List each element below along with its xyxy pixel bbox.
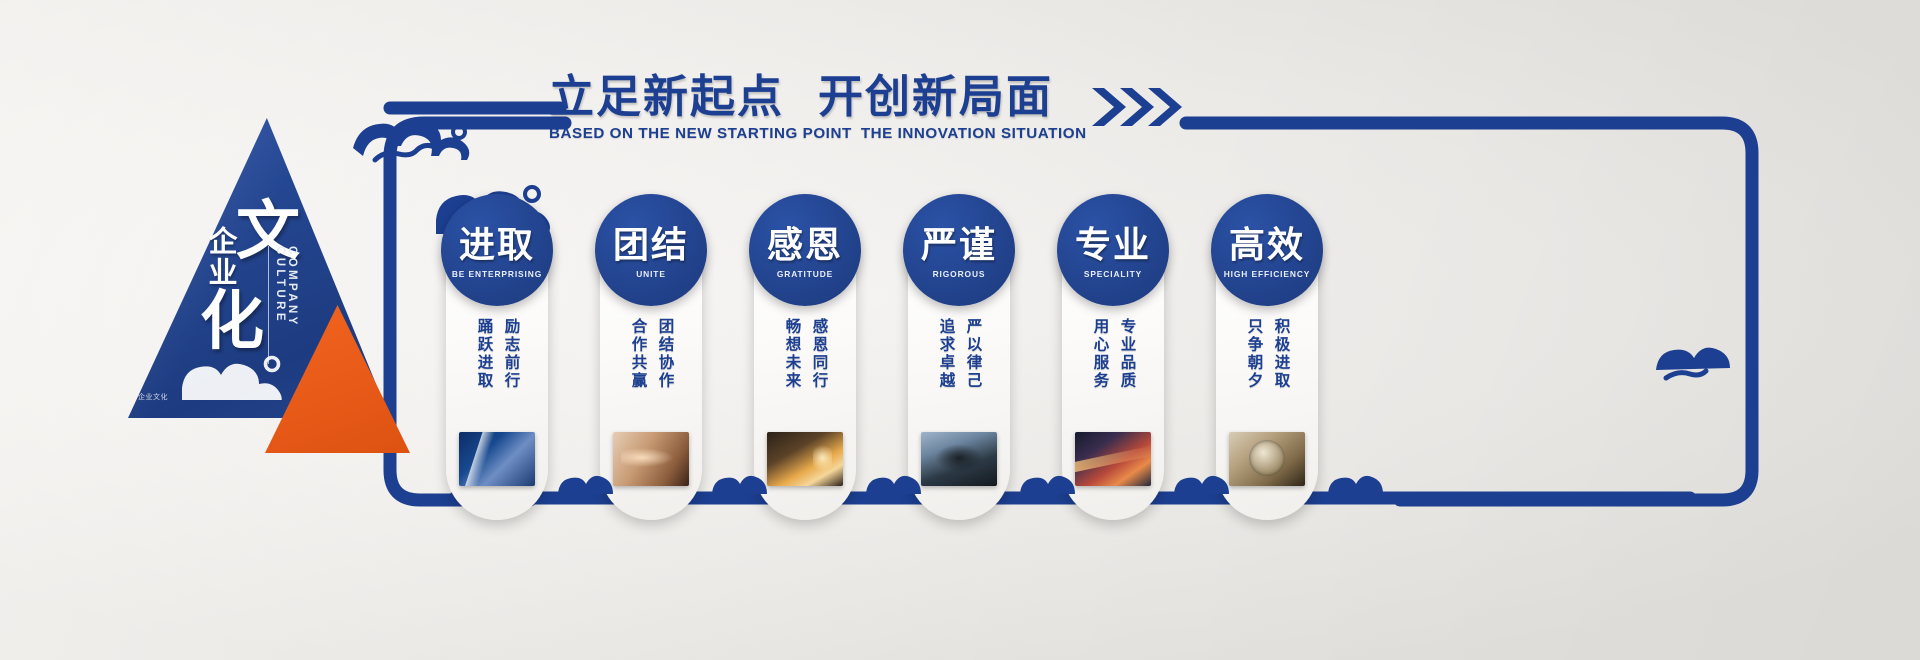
rail-cloud-2 xyxy=(710,462,772,496)
pill-cn-5: 专业 xyxy=(1075,226,1151,264)
rail-cloud-4 xyxy=(1018,462,1080,496)
headline-english: BASED ON THE NEW STARTING POINTTHE INNOV… xyxy=(549,125,1109,142)
pill-circle-2[interactable]: 团结 UNITE xyxy=(595,194,707,306)
pill-slogan-left-1: 踊跃进取 xyxy=(473,318,495,414)
pill-slogan-6: 积极进取 只争朝夕 xyxy=(1216,318,1318,414)
headline-en-part2: THE INNOVATION SITUATION xyxy=(861,125,1087,142)
pill-circle-1[interactable]: 进取 BE ENTERPRISING xyxy=(441,194,553,306)
pill-slogan-left-3: 畅想未来 xyxy=(781,318,803,414)
pill-slogan-right-1: 励志前行 xyxy=(500,318,522,414)
rail-cloud-6 xyxy=(1326,462,1388,496)
pill-cn-4: 严谨 xyxy=(921,226,997,264)
pill-slogan-right-2: 团结协作 xyxy=(654,318,676,414)
pill-slogan-right-6: 积极进取 xyxy=(1270,318,1292,414)
rail-cloud-1 xyxy=(556,462,618,496)
pill-cn-3: 感恩 xyxy=(767,226,843,264)
logo-en-company-culture: COMPANY CULTURE xyxy=(268,246,298,364)
headline-cn-part1: 立足新起点 xyxy=(549,72,784,122)
headline-block: 立足新起点开创新局面 BASED ON THE NEW STARTING POI… xyxy=(549,72,1109,142)
pill-slogan-5: 专业品质 用心服务 xyxy=(1062,318,1164,414)
photo-eagle xyxy=(921,432,997,486)
photo-handshake xyxy=(613,432,689,486)
pill-en-6: HIGH EFFICIENCY xyxy=(1224,269,1311,279)
pill-en-2: UNITE xyxy=(636,269,666,279)
pill-en-4: RIGOROUS xyxy=(933,269,986,279)
chevron-arrows xyxy=(1090,86,1186,128)
logo-cloud-flourish xyxy=(176,348,296,400)
pill-en-5: SPECIALITY xyxy=(1084,269,1142,279)
photo-runner-track xyxy=(1075,432,1151,486)
pill-slogan-3: 感恩同行 畅想未来 xyxy=(754,318,856,414)
pill-slogan-left-6: 只争朝夕 xyxy=(1243,318,1265,414)
pill-slogan-2: 团结协作 合作共赢 xyxy=(600,318,702,414)
photo-pocket-watch xyxy=(1229,432,1305,486)
rail-cloud-5 xyxy=(1172,462,1234,496)
pill-slogan-left-5: 用心服务 xyxy=(1089,318,1111,414)
cloud-motif-right xyxy=(1652,330,1744,382)
culture-wall-stage: 企业 文 化 COMPANY CULTURE 企业文化 立足新起点开创新局面 B… xyxy=(0,0,1920,660)
pill-slogan-right-5: 专业品质 xyxy=(1116,318,1138,414)
pill-circle-5[interactable]: 专业 SPECIALITY xyxy=(1057,194,1169,306)
logo-corner-badge: 企业文化 xyxy=(138,392,168,402)
pill-slogan-left-2: 合作共赢 xyxy=(627,318,649,414)
pill-slogan-1: 励志前行 踊跃进取 xyxy=(446,318,548,414)
headline-chinese: 立足新起点开创新局面 xyxy=(549,72,1109,122)
pill-cn-2: 团结 xyxy=(613,226,689,264)
pill-circle-4[interactable]: 严谨 RIGOROUS xyxy=(903,194,1015,306)
pill-slogan-4: 严以律己 追求卓越 xyxy=(908,318,1010,414)
pill-circle-3[interactable]: 感恩 GRATITUDE xyxy=(749,194,861,306)
pill-cn-1: 进取 xyxy=(459,226,535,264)
value-pill-1[interactable]: 进取 BE ENTERPRISING 励志前行 踊跃进取 xyxy=(446,200,548,520)
pill-circle-6[interactable]: 高效 HIGH EFFICIENCY xyxy=(1211,194,1323,306)
headline-cn-part2: 开创新局面 xyxy=(818,72,1053,122)
photo-climbing-ice xyxy=(459,432,535,486)
photo-sunrise-figure xyxy=(767,432,843,486)
pill-slogan-left-4: 追求卓越 xyxy=(935,318,957,414)
pill-en-1: BE ENTERPRISING xyxy=(452,269,542,279)
pill-cn-6: 高效 xyxy=(1229,226,1305,264)
pill-slogan-right-4: 严以律己 xyxy=(962,318,984,414)
pill-en-3: GRATITUDE xyxy=(777,269,833,279)
headline-en-part1: BASED ON THE NEW STARTING POINT xyxy=(549,125,852,142)
rail-cloud-3 xyxy=(864,462,926,496)
pill-slogan-right-3: 感恩同行 xyxy=(808,318,830,414)
